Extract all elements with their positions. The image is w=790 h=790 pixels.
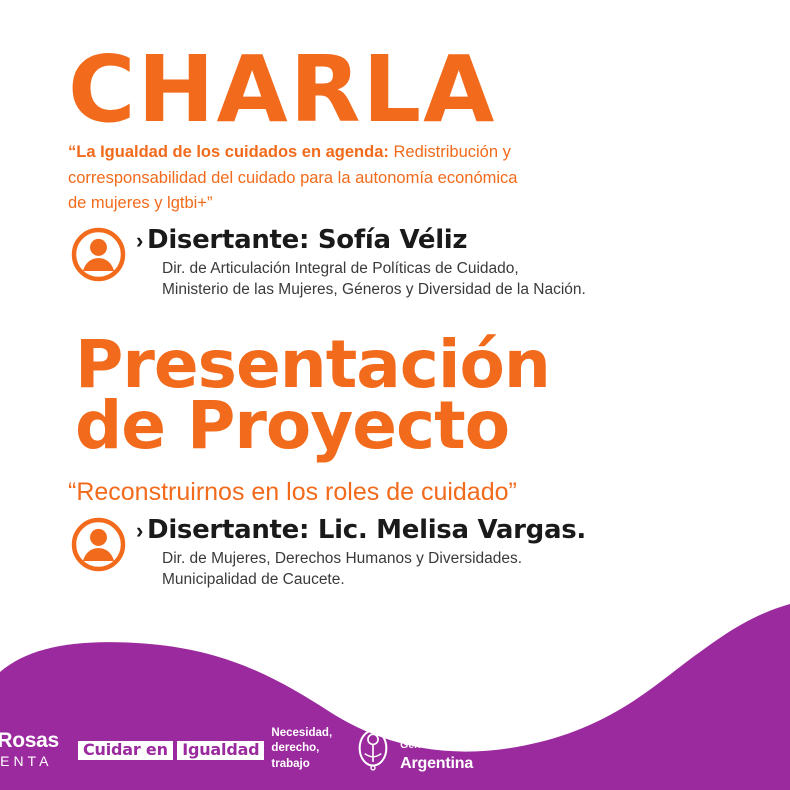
logo-rosas-subtitle: DENTA: [0, 754, 60, 768]
speaker-role-sofia-veliz: Dir. de Articulación Integral de Polític…: [162, 259, 586, 301]
speaker-text-melisa-vargas: ›Disertante: Lic. Melisa Vargas. Dir. de…: [136, 514, 586, 591]
person-avatar-icon: [70, 226, 127, 283]
poster-content: CHARLA “La Igualdad de los cuidados en a…: [0, 0, 790, 790]
ministerio-country: Argentina: [400, 755, 528, 773]
presentacion-subtitle: “Reconstruirnos en los roles de cuidado”: [68, 478, 517, 507]
logo-ministerio-argentina: Ministerio de las Mujeres, Géneros y Div…: [354, 725, 528, 772]
logo-cuidar-en-igualdad: Cuidar en Igualdad Necesidad, derecho, t…: [78, 726, 332, 772]
speaker-name-label: Disertante: Lic. Melisa Vargas.: [147, 515, 586, 545]
chevron-right-icon: ›: [136, 518, 143, 543]
speaker-block-sofia-veliz: ›Disertante: Sofía Véliz Dir. de Articul…: [70, 224, 586, 301]
logo-rosas-name: aRosas: [0, 730, 60, 751]
poster-canvas: CHARLA “La Igualdad de los cuidados en a…: [0, 0, 790, 790]
speaker-name-label: Disertante: Sofía Véliz: [147, 225, 467, 255]
speaker-name-melisa-vargas: ›Disertante: Lic. Melisa Vargas.: [136, 516, 586, 545]
cuidar-band-1: Cuidar en: [78, 741, 173, 761]
cuidar-word-2: derecho,: [271, 741, 332, 756]
ministerio-text: Ministerio de las Mujeres, Géneros y Div…: [400, 725, 528, 772]
speaker-text-sofia-veliz: ›Disertante: Sofía Véliz Dir. de Articul…: [136, 224, 586, 301]
presentacion-heading-line-2: de Proyecto: [75, 395, 550, 456]
cuidar-band-2: Igualdad: [177, 741, 264, 761]
speaker-role-line-2: Ministerio de las Mujeres, Géneros y Div…: [162, 280, 586, 301]
argentina-shield-icon: [354, 726, 392, 772]
speaker-block-melisa-vargas: ›Disertante: Lic. Melisa Vargas. Dir. de…: [70, 514, 586, 591]
charla-subtitle-bold: “La Igualdad de los cuidados en agenda:: [68, 143, 389, 161]
footer-logo-bar: aRosas DENTA Cuidar en Igualdad Necesida…: [0, 720, 790, 778]
charla-subtitle: “La Igualdad de los cuidados en agenda: …: [68, 140, 538, 217]
speaker-role-line-1: Dir. de Articulación Integral de Polític…: [162, 259, 586, 280]
page-title-presentacion: Presentación de Proyecto: [75, 334, 550, 457]
cuidar-words: Necesidad, derecho, trabajo: [271, 726, 332, 772]
ministerio-line-2: Géneros y Diversidad: [400, 739, 528, 753]
chevron-right-icon: ›: [136, 228, 143, 253]
presentacion-heading-line-1: Presentación: [75, 334, 550, 395]
logo-rosas: aRosas DENTA: [0, 730, 60, 768]
speaker-role-melisa-vargas: Dir. de Mujeres, Derechos Humanos y Dive…: [162, 549, 586, 591]
ministerio-line-1: Ministerio de las Mujeres,: [400, 725, 528, 739]
speaker-role-line-2: Municipalidad de Caucete.: [162, 570, 586, 591]
page-title-charla: CHARLA: [68, 46, 496, 133]
speaker-role-line-1: Dir. de Mujeres, Derechos Humanos y Dive…: [162, 549, 586, 570]
cuidar-word-1: Necesidad,: [271, 726, 332, 741]
speaker-name-sofia-veliz: ›Disertante: Sofía Véliz: [136, 226, 586, 255]
person-avatar-icon: [70, 516, 127, 573]
logo-rosas-name-bold: Rosas: [0, 730, 59, 752]
cuidar-word-3: trabajo: [271, 757, 332, 772]
cuidar-bands: Cuidar en Igualdad: [78, 738, 264, 761]
